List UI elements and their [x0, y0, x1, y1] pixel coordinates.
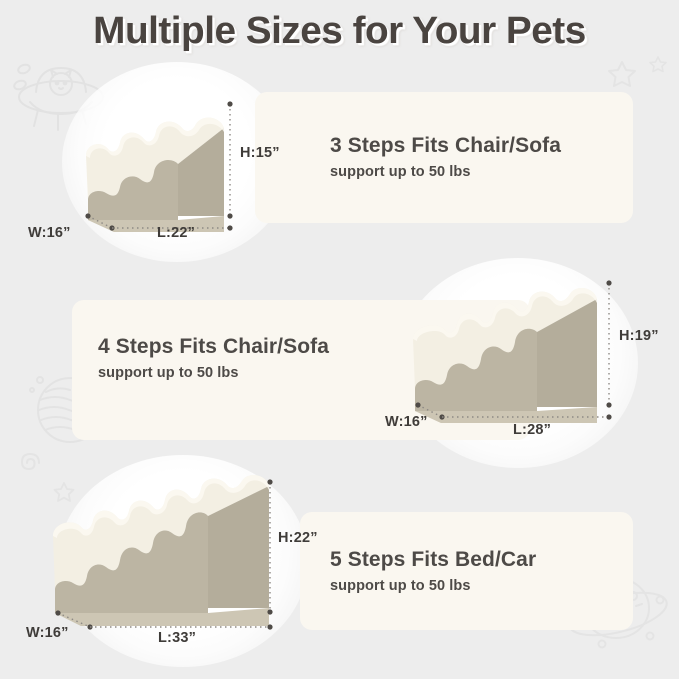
dimension-width-3: W:16” [26, 625, 69, 641]
dimension-length-3: L:33” [158, 630, 196, 646]
spiral-icon [12, 448, 42, 478]
product-image-3-steps [74, 92, 274, 242]
product-image-5-steps [45, 468, 285, 638]
product-image-4-steps [405, 275, 625, 435]
dimension-height-1: H:15” [240, 145, 280, 161]
dimension-length-1: L:22” [157, 225, 195, 241]
dimension-width-1: W:16” [28, 225, 71, 241]
product-subtitle-1: support up to 50 lbs [330, 164, 561, 180]
product-title-1: 3 Steps Fits Chair/Sofa [330, 134, 561, 158]
dimension-length-2: L:28” [513, 422, 551, 438]
dimension-width-2: W:16” [385, 414, 428, 430]
product-card-2-text: 4 Steps Fits Chair/Sofa support up to 50… [98, 335, 329, 381]
star-outline-icon [606, 58, 638, 90]
product-title-3: 5 Steps Fits Bed/Car [330, 548, 536, 572]
product-card-1-text: 3 Steps Fits Chair/Sofa support up to 50… [330, 134, 561, 180]
product-title-2: 4 Steps Fits Chair/Sofa [98, 335, 329, 359]
product-card-3-text: 5 Steps Fits Bed/Car support up to 50 lb… [330, 548, 536, 594]
product-subtitle-2: support up to 50 lbs [98, 365, 329, 381]
dimension-height-3: H:22” [278, 530, 318, 546]
dimension-height-2: H:19” [619, 328, 659, 344]
product-subtitle-3: support up to 50 lbs [330, 578, 536, 594]
page-title: Multiple Sizes for Your Pets [93, 10, 586, 53]
page-header: Multiple Sizes for Your Pets [0, 0, 679, 62]
